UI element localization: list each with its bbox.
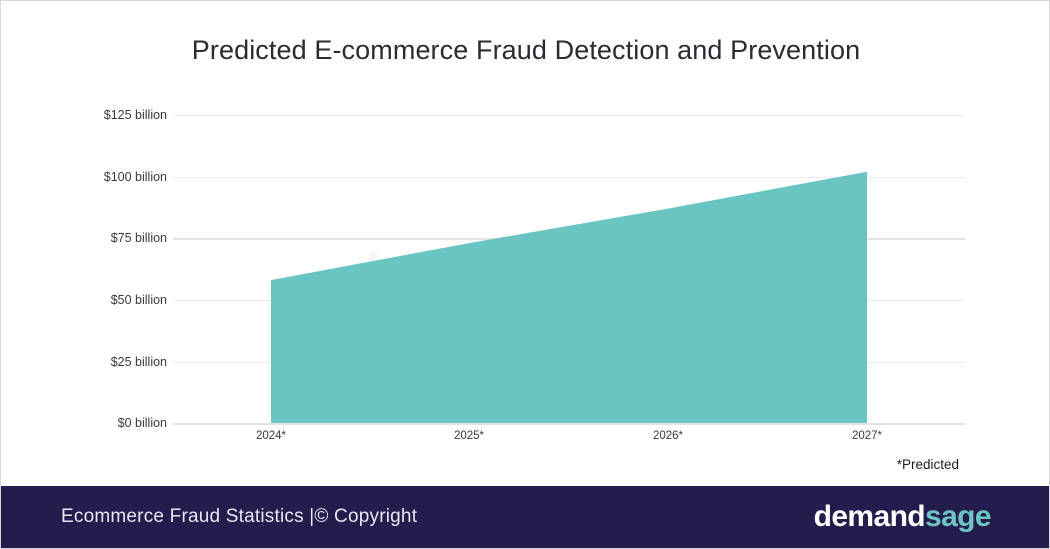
footer-caption: Ecommerce Fraud Statistics |© Copyright — [61, 506, 417, 528]
x-axis-label-2027: 2027* — [852, 430, 882, 442]
plot-area: demandsage $125 billion $100 billion $75… — [1, 1, 1050, 481]
chart-page: Predicted E-commerce Fraud Detection and… — [0, 0, 1050, 549]
logo-text-demand: demand — [814, 500, 925, 533]
x-axis-label-2025: 2025* — [454, 430, 484, 442]
x-axis-label-2026: 2026* — [653, 430, 683, 442]
logo-text-sage: sage — [925, 500, 991, 533]
area-series — [1, 1, 1050, 481]
footer-bar: Ecommerce Fraud Statistics |© Copyright … — [1, 486, 1050, 548]
predicted-footnote: *Predicted — [1, 457, 959, 472]
x-axis-label-2024: 2024* — [256, 430, 286, 442]
demandsage-logo: demandsage — [814, 500, 991, 534]
